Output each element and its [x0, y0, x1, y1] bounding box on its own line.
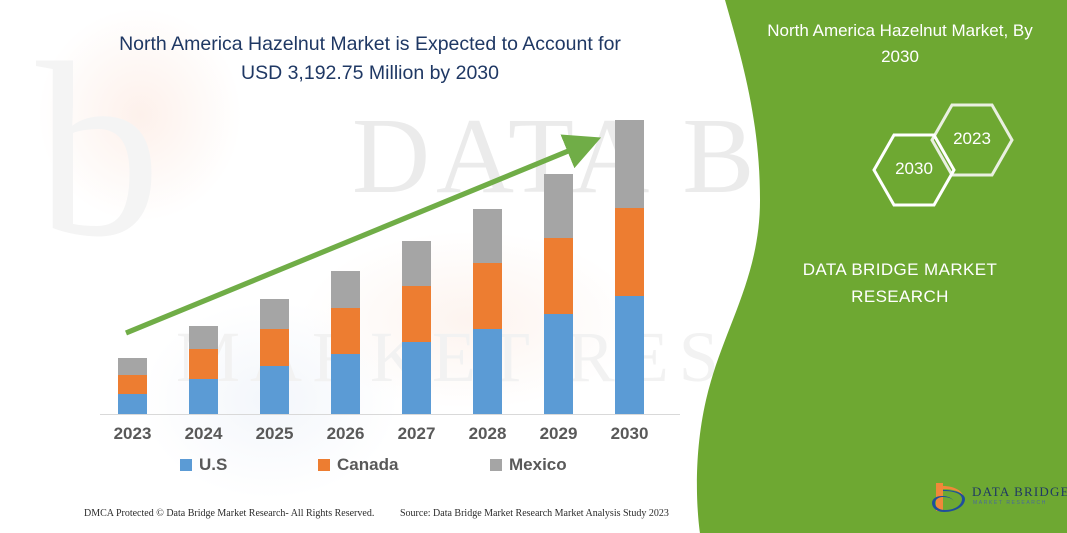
hexagon-group: 2023 2030	[742, 95, 1067, 225]
logo-mark-icon	[930, 481, 970, 517]
bar-segment-canada	[331, 308, 360, 354]
bar-segment-u-s	[260, 366, 289, 414]
green-panel-content: RE North America Hazelnut Market, By 203…	[742, 0, 1067, 533]
footer: DMCA Protected © Data Bridge Market Rese…	[0, 508, 700, 533]
bar-segment-canada	[402, 286, 431, 342]
x-axis-label-2029: 2029	[524, 424, 594, 444]
legend-swatch-icon	[490, 459, 502, 471]
bar-segment-u-s	[615, 296, 644, 414]
bar-segment-u-s	[331, 354, 360, 414]
hexagon-label-2030: 2030	[882, 159, 946, 179]
x-axis-labels: 20232024202520262027202820292030	[100, 424, 690, 452]
x-axis-line	[100, 414, 680, 415]
bar-segment-canada	[473, 263, 502, 329]
x-axis-label-2027: 2027	[382, 424, 452, 444]
bar-segment-u-s	[473, 329, 502, 414]
x-axis-label-2030: 2030	[595, 424, 665, 444]
chart-legend: U.SCanadaMexico	[100, 455, 690, 481]
bar-group-2023	[118, 358, 147, 414]
bar-group-2025	[260, 299, 289, 414]
logo-tagline: MARKET RESEARCH	[973, 500, 1047, 506]
legend-swatch-icon	[180, 459, 192, 471]
page-title-line-2: USD 3,192.75 Million by 2030	[70, 59, 670, 88]
bar-group-2029	[544, 174, 573, 414]
x-axis-label-2023: 2023	[98, 424, 168, 444]
bar-segment-mexico	[331, 271, 360, 308]
legend-label: U.S	[199, 455, 227, 475]
bar-segment-u-s	[118, 394, 147, 414]
bar-group-2028	[473, 209, 502, 414]
x-axis-label-2025: 2025	[240, 424, 310, 444]
bar-segment-mexico	[402, 241, 431, 286]
bar-segment-mexico	[118, 358, 147, 375]
bar-group-2024	[189, 326, 218, 414]
hexagon-label-2023: 2023	[940, 129, 1004, 149]
bar-segment-canada	[544, 238, 573, 314]
logo-name: DATA BRIDGE	[972, 484, 1067, 500]
legend-label: Mexico	[509, 455, 567, 475]
bar-group-2027	[402, 241, 431, 414]
bar-segment-u-s	[402, 342, 431, 414]
bar-group-2030	[615, 120, 644, 414]
x-axis-label-2028: 2028	[453, 424, 523, 444]
legend-swatch-icon	[318, 459, 330, 471]
page-title-line-1: North America Hazelnut Market is Expecte…	[119, 33, 621, 55]
footer-source: Source: Data Bridge Market Research Mark…	[400, 508, 669, 519]
legend-item-canada[interactable]: Canada	[318, 455, 398, 475]
bar-segment-u-s	[189, 379, 218, 414]
bar-segment-mexico	[189, 326, 218, 349]
legend-item-mexico[interactable]: Mexico	[490, 455, 567, 475]
panel-brand-line-1: DATA BRIDGE MARKET	[803, 260, 998, 279]
panel-title: North America Hazelnut Market, By 2030	[750, 18, 1050, 70]
panel-title-line-2: 2030	[750, 44, 1050, 70]
legend-label: Canada	[337, 455, 398, 475]
footer-copyright: DMCA Protected © Data Bridge Market Rese…	[84, 508, 374, 519]
bar-segment-mexico	[544, 174, 573, 238]
bar-segment-u-s	[544, 314, 573, 414]
bar-group-2026	[331, 271, 360, 414]
bar-segment-canada	[615, 208, 644, 296]
panel-brand-line-2: RESEARCH	[750, 283, 1050, 310]
stacked-bar-chart	[100, 130, 690, 415]
x-axis-label-2026: 2026	[311, 424, 381, 444]
panel-brand: DATA BRIDGE MARKET RESEARCH	[750, 256, 1050, 310]
bar-segment-mexico	[615, 120, 644, 208]
bar-segment-canada	[260, 329, 289, 366]
x-axis-label-2024: 2024	[169, 424, 239, 444]
data-bridge-logo: DATA BRIDGE MARKET RESEARCH	[930, 481, 1058, 519]
infographic-canvas: b DATA BRIDGE MARKET RESEARCH North Amer…	[0, 0, 1067, 533]
bar-segment-mexico	[473, 209, 502, 263]
page-title: North America Hazelnut Market is Expecte…	[70, 30, 670, 88]
legend-item-u-s[interactable]: U.S	[180, 455, 227, 475]
bar-segment-canada	[189, 349, 218, 379]
bar-segment-canada	[118, 375, 147, 394]
bar-segment-mexico	[260, 299, 289, 329]
panel-title-line-1: North America Hazelnut Market, By	[767, 21, 1032, 40]
